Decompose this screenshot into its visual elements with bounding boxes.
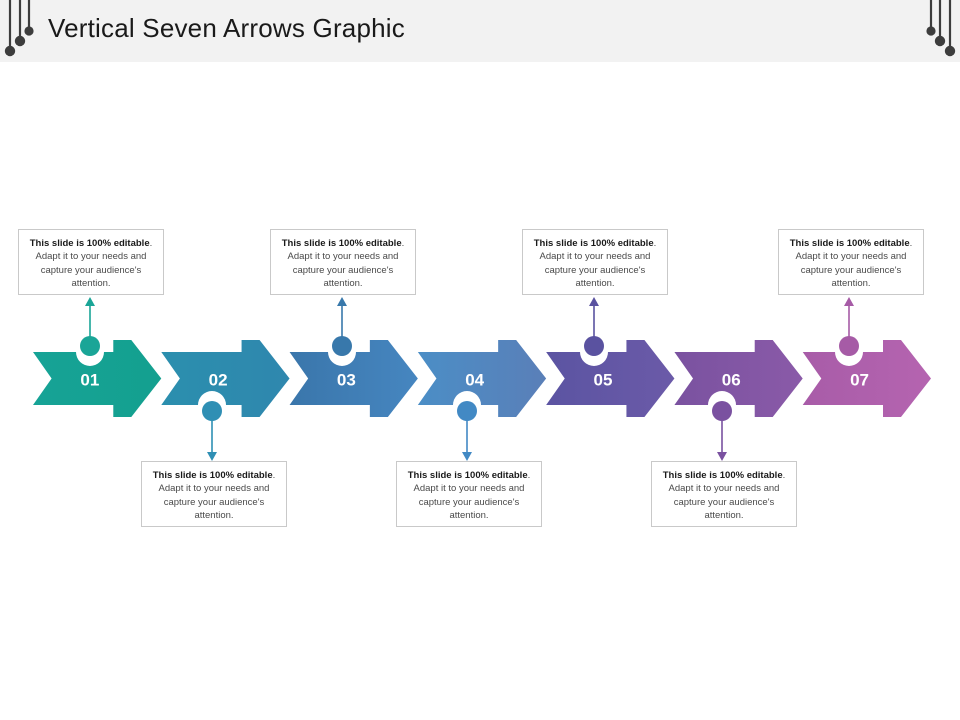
- callout-box-05[interactable]: This slide is 100% editable. Adapt it to…: [522, 229, 668, 295]
- nodes-layer: [76, 336, 863, 421]
- node-dot-02[interactable]: [202, 401, 222, 421]
- callout-lead-05: This slide is 100% editable: [534, 238, 654, 249]
- callout-box-04[interactable]: This slide is 100% editable. Adapt it to…: [396, 461, 542, 527]
- connector-arrowhead-01: [85, 297, 95, 306]
- arrow-step-07[interactable]: [803, 340, 931, 417]
- node-dot-05[interactable]: [584, 336, 604, 356]
- arrow-number-01: 01: [80, 371, 99, 390]
- pin-lines-icon-right: [912, 0, 958, 62]
- node-ring-05: [580, 338, 608, 366]
- node-ring-07: [835, 338, 863, 366]
- arrow-step-01[interactable]: [33, 340, 161, 417]
- arrow-number-03: 03: [337, 371, 356, 390]
- connector-arrowhead-05: [589, 297, 599, 306]
- node-ring-01: [76, 338, 104, 366]
- callout-box-06[interactable]: This slide is 100% editable. Adapt it to…: [651, 461, 797, 527]
- node-dot-04[interactable]: [457, 401, 477, 421]
- callout-lead-06: This slide is 100% editable: [663, 470, 783, 481]
- arrow-number-07: 07: [850, 371, 869, 390]
- arrow-number-06: 06: [722, 371, 741, 390]
- callout-lead-02: This slide is 100% editable: [153, 470, 273, 481]
- seven-arrows-graphic: 01020304050607: [0, 0, 960, 720]
- arrow-number-05: 05: [594, 371, 613, 390]
- connectors-layer: [85, 297, 854, 461]
- arrow-step-04[interactable]: [418, 340, 546, 417]
- callout-lead-03: This slide is 100% editable: [282, 238, 402, 249]
- node-ring-02: [198, 391, 226, 419]
- arrow-number-02: 02: [209, 371, 228, 390]
- arrow-step-03[interactable]: [290, 340, 418, 417]
- callout-lead-04: This slide is 100% editable: [408, 470, 528, 481]
- arrow-step-05[interactable]: [546, 340, 674, 417]
- callout-box-02[interactable]: This slide is 100% editable. Adapt it to…: [141, 461, 287, 527]
- node-dot-01[interactable]: [80, 336, 100, 356]
- node-dot-06[interactable]: [712, 401, 732, 421]
- callout-box-01[interactable]: This slide is 100% editable. Adapt it to…: [18, 229, 164, 295]
- connector-arrowhead-07: [844, 297, 854, 306]
- callout-lead-01: This slide is 100% editable: [30, 238, 150, 249]
- callout-lead-07: This slide is 100% editable: [790, 238, 910, 249]
- slide-canvas: Vertical Seven Arrows Graphic 0102030405…: [0, 0, 960, 720]
- arrows-layer: [33, 340, 931, 417]
- callout-box-07[interactable]: This slide is 100% editable. Adapt it to…: [778, 229, 924, 295]
- arrow-step-06[interactable]: [674, 340, 802, 417]
- arrow-step-02[interactable]: [161, 340, 289, 417]
- connector-arrowhead-02: [207, 452, 217, 461]
- connector-arrowhead-04: [462, 452, 472, 461]
- node-dot-03[interactable]: [332, 336, 352, 356]
- node-ring-04: [453, 391, 481, 419]
- numbers-layer: 01020304050607: [80, 371, 869, 390]
- node-ring-06: [708, 391, 736, 419]
- arrow-number-04: 04: [465, 371, 484, 390]
- node-dot-07[interactable]: [839, 336, 859, 356]
- pin-lines-icon-left: [2, 0, 48, 62]
- page-title: Vertical Seven Arrows Graphic: [48, 13, 405, 44]
- callout-box-03[interactable]: This slide is 100% editable. Adapt it to…: [270, 229, 416, 295]
- node-ring-03: [328, 338, 356, 366]
- connector-arrowhead-03: [337, 297, 347, 306]
- connector-arrowhead-06: [717, 452, 727, 461]
